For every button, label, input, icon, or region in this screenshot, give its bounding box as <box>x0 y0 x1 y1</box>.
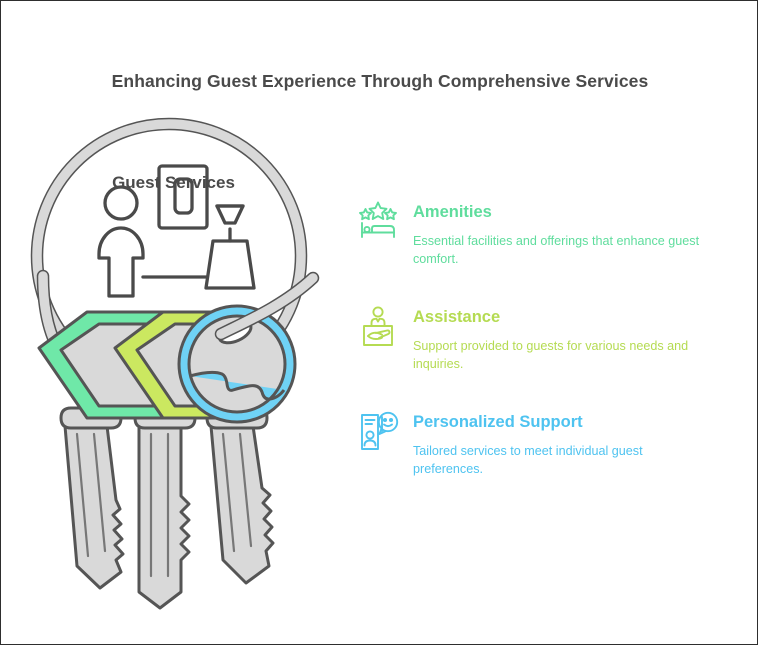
key-blade-2 <box>139 426 189 608</box>
list-item-personalized-support: Personalized Support Tailored services t… <box>359 407 719 489</box>
item-description-personalized-support: Tailored services to meet individual gue… <box>413 443 703 478</box>
keyring-illustration <box>21 96 351 616</box>
services-list: Amenities Essential facilities and offer… <box>359 197 719 512</box>
item-title-amenities: Amenities <box>413 197 719 227</box>
guest-reception-scene-icon <box>99 166 254 296</box>
key-blade-3 <box>211 426 273 583</box>
item-description-amenities: Essential facilities and offerings that … <box>413 233 703 268</box>
infographic-canvas: Enhancing Guest Experience Through Compr… <box>0 0 758 645</box>
bed-with-stars-icon <box>359 201 397 241</box>
item-title-assistance: Assistance <box>413 302 719 332</box>
item-description-assistance: Support provided to guests for various n… <box>413 338 703 373</box>
list-item-assistance: Assistance Support provided to guests fo… <box>359 302 719 384</box>
key-blade-1 <box>65 426 123 588</box>
item-title-personalized-support: Personalized Support <box>413 407 719 437</box>
concierge-desk-icon <box>359 306 397 346</box>
page-title: Enhancing Guest Experience Through Compr… <box>1 71 758 92</box>
list-item-amenities: Amenities Essential facilities and offer… <box>359 197 719 279</box>
person-chat-bubble-icon <box>359 411 397 451</box>
key-blades <box>65 426 273 608</box>
